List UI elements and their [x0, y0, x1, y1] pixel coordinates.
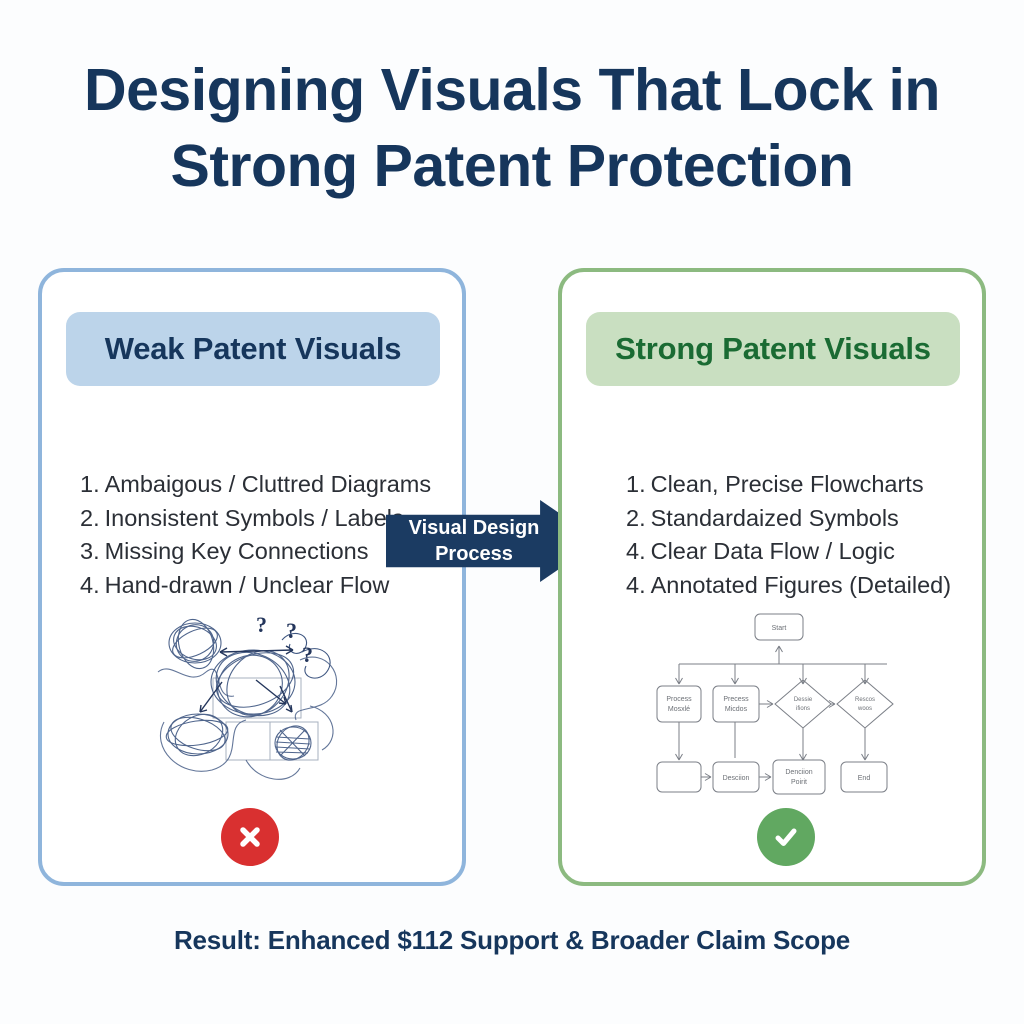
- page-title-line-1: Designing Visuals That Lock in: [62, 52, 962, 128]
- svg-text:?: ?: [286, 618, 297, 643]
- list-item-number: 4.: [626, 572, 646, 598]
- flow-node-decision-a-label: Dessie: [794, 697, 813, 703]
- page-title: Designing Visuals That Lock in Strong Pa…: [62, 52, 962, 204]
- flow-node-start-label: Start: [772, 625, 787, 632]
- list-item: 2.Inonsistent Symbols / Labels: [80, 502, 431, 536]
- list-item: 4.Hand-drawn / Unclear Flow: [80, 569, 431, 603]
- list-item-label: Annotated Figures (Detailed): [651, 572, 951, 598]
- list-item-label: Clean, Precise Flowcharts: [651, 471, 924, 497]
- list-item-label: Clear Data Flow / Logic: [651, 538, 895, 564]
- list-item: 2.Standardaized Symbols: [626, 502, 951, 536]
- weak-card-header: Weak Patent Visuals: [66, 312, 440, 386]
- check-mark-icon: [757, 808, 815, 866]
- strong-card-list: 1.Clean, Precise Flowcharts 2.Standardai…: [626, 468, 951, 602]
- weak-card-header-label: Weak Patent Visuals: [105, 331, 402, 367]
- list-item-number: 4.: [80, 572, 100, 598]
- list-item-number: 2.: [626, 505, 646, 531]
- list-item-label: Ambaigous / Cluttred Diagrams: [105, 471, 432, 497]
- arrow-label: Visual Design Process: [400, 515, 548, 567]
- list-item-number: 4.: [626, 538, 646, 564]
- flow-node-decision-a-label-2: ifions: [796, 706, 810, 712]
- list-item: 1.Ambaigous / Cluttred Diagrams: [80, 468, 431, 502]
- list-item-number: 3.: [80, 538, 100, 564]
- flow-node-process-a-label-2: Mosxlé: [668, 706, 690, 713]
- arrow-label-line-2: Process: [400, 541, 548, 567]
- flow-node-decision-b-label: Rescos: [855, 697, 875, 703]
- list-item-label: Hand-drawn / Unclear Flow: [105, 572, 390, 598]
- flow-node-decision-point-label: Denciion: [785, 769, 812, 776]
- list-item-label: Missing Key Connections: [105, 538, 369, 564]
- flow-node-process-b-label: Precess: [723, 696, 749, 703]
- flow-node-decision-c-label: Desciion: [723, 775, 750, 782]
- list-item: 4.Annotated Figures (Detailed): [626, 569, 951, 603]
- list-item-label: Standardaized Symbols: [651, 505, 899, 531]
- cross-mark-icon: [221, 808, 279, 866]
- flow-node-process-a-label: Process: [666, 696, 692, 703]
- strong-card-header: Strong Patent Visuals: [586, 312, 960, 386]
- arrow-label-line-1: Visual Design: [400, 515, 548, 541]
- svg-text:?: ?: [256, 612, 267, 637]
- list-item-label: Inonsistent Symbols / Labels: [105, 505, 404, 531]
- list-item: 1.Clean, Precise Flowcharts: [626, 468, 951, 502]
- list-item: 3.Missing Key Connections: [80, 535, 431, 569]
- svg-text:?: ?: [302, 642, 313, 667]
- list-item: 4.Clear Data Flow / Logic: [626, 535, 951, 569]
- flow-node-decision-b-label-2: woos: [857, 706, 872, 712]
- result-summary: Result: Enhanced $112 Support & Broader …: [0, 925, 1024, 956]
- list-item-number: 2.: [80, 505, 100, 531]
- weak-card-list: 1.Ambaigous / Cluttred Diagrams 2.Inonsi…: [80, 468, 431, 602]
- list-item-number: 1.: [80, 471, 100, 497]
- flow-node-process-b-label-2: Micdos: [725, 706, 748, 713]
- clean-flowchart-diagram-icon: Start Process Mosxlé Precess Micdos Dess…: [655, 608, 915, 798]
- messy-scribble-diagram-icon: ? ? ?: [150, 600, 370, 800]
- strong-card-header-label: Strong Patent Visuals: [615, 331, 931, 367]
- flow-node-decision-point-label-2: Poirit: [791, 779, 807, 786]
- list-item-number: 1.: [626, 471, 646, 497]
- page-title-line-2: Strong Patent Protection: [62, 128, 962, 204]
- flow-node-end-label: End: [858, 775, 871, 782]
